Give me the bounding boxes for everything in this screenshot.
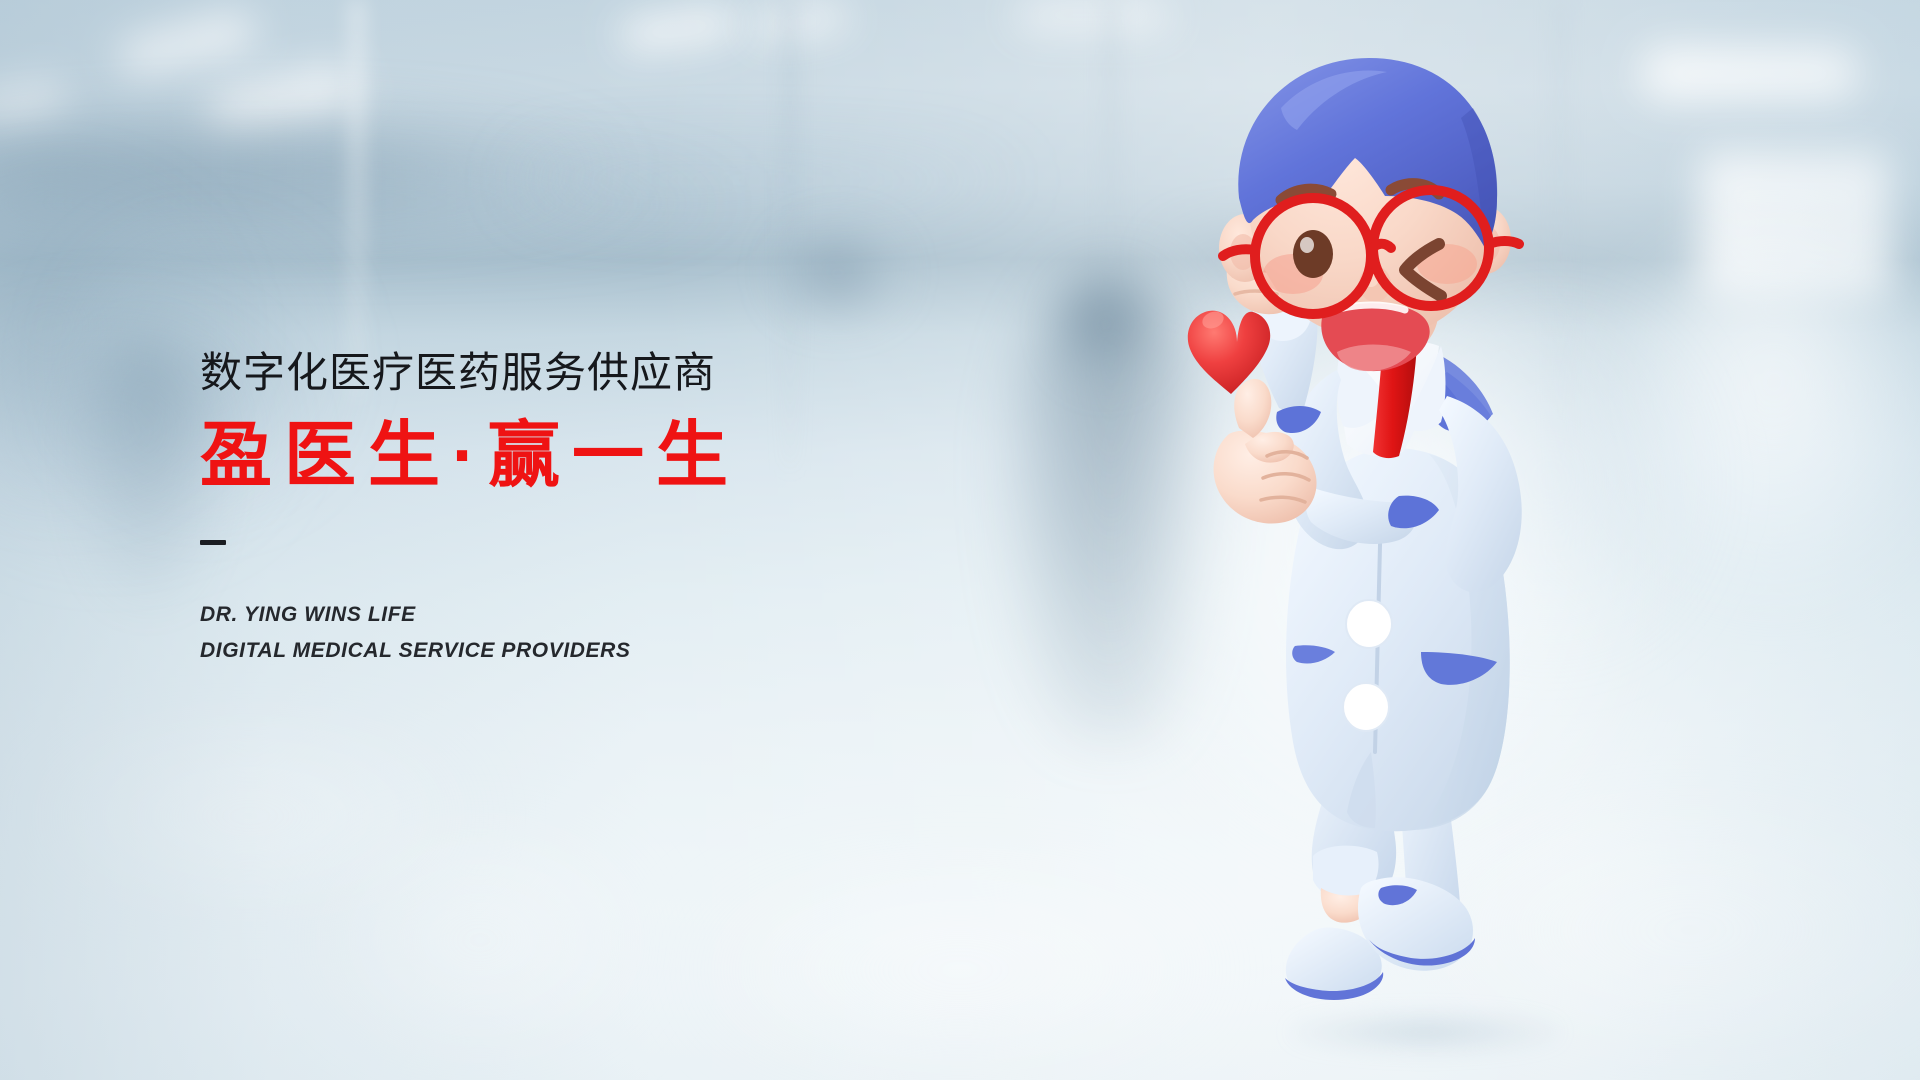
subtitle-line-1: DR. YING WINS LIFE	[200, 597, 1020, 633]
mascot-open-eye	[1293, 230, 1333, 278]
main-title: 盈医生·赢一生	[200, 420, 1020, 492]
title-divider	[200, 540, 226, 545]
subtitle-line-2: DIGITAL MEDICAL SERVICE PROVIDERS	[200, 633, 1020, 669]
hero-banner: 数字化医疗医药服务供应商 盈医生·赢一生 DR. YING WINS LIFE …	[0, 0, 1920, 1080]
subtitle-group: DR. YING WINS LIFE DIGITAL MEDICAL SERVI…	[200, 597, 1020, 669]
doctor-mascot-illustration	[1185, 52, 1605, 1052]
mascot-shoes	[1285, 877, 1475, 1000]
eyebrow-title: 数字化医疗医药服务供应商	[200, 352, 1020, 394]
hero-copy-block: 数字化医疗医药服务供应商 盈医生·赢一生 DR. YING WINS LIFE …	[200, 352, 1020, 669]
